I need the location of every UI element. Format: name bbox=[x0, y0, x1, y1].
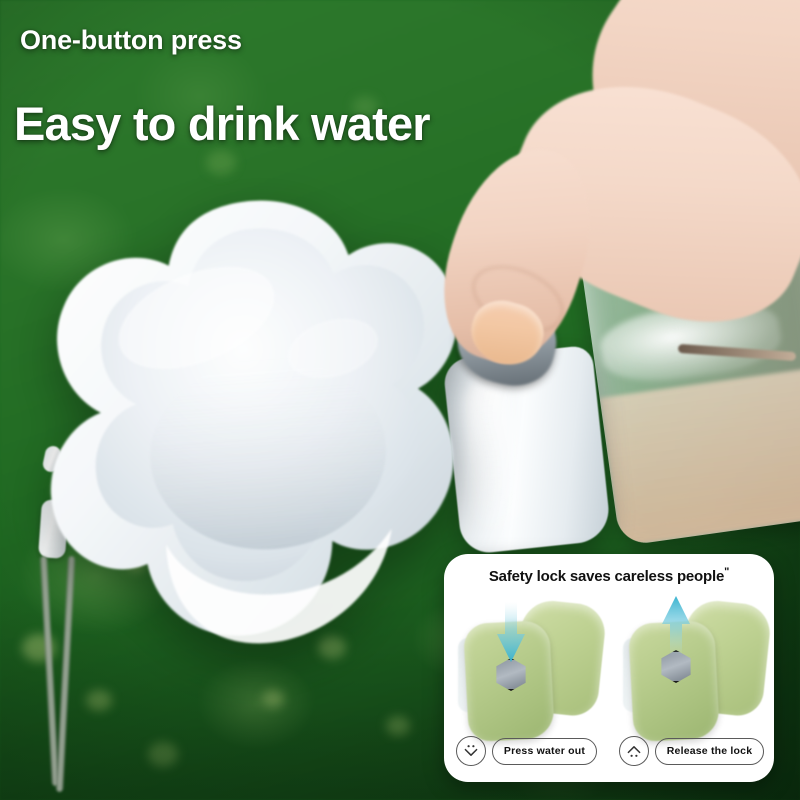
caption-press-water-out-label: Press water out bbox=[492, 738, 597, 765]
page-title: Easy to drink water bbox=[14, 96, 430, 151]
flower-bowl-svg bbox=[22, 171, 490, 676]
chevron-down-icon bbox=[456, 736, 486, 766]
caption-release-the-lock-label: Release the lock bbox=[655, 738, 765, 765]
bottle-water-level bbox=[600, 366, 800, 547]
product-marketing-image: One-button press Easy to drink water Saf… bbox=[0, 0, 800, 800]
caption-release-the-lock: Release the lock bbox=[609, 734, 774, 768]
eyebrow-text: One-button press bbox=[20, 25, 242, 56]
chevron-up-icon bbox=[619, 736, 649, 766]
inset-illustration-release bbox=[609, 592, 774, 732]
up-arrow-icon-inset bbox=[661, 596, 691, 658]
inset-panel-title: Safety lock saves careless people" bbox=[444, 566, 774, 585]
inset-panel-title-text: Safety lock saves careless people bbox=[489, 568, 724, 585]
inset-illustration-press bbox=[444, 592, 609, 732]
caption-press-water-out: Press water out bbox=[444, 734, 609, 768]
down-arrow-icon-inset bbox=[496, 602, 526, 664]
flower-bowl bbox=[22, 171, 490, 676]
safety-lock-inset-panel: Safety lock saves careless people" bbox=[444, 554, 774, 782]
inset-illustration-row bbox=[444, 592, 774, 732]
inset-caption-row: Press water out Release the lock bbox=[444, 734, 774, 768]
inset-panel-title-quote: " bbox=[724, 566, 729, 578]
